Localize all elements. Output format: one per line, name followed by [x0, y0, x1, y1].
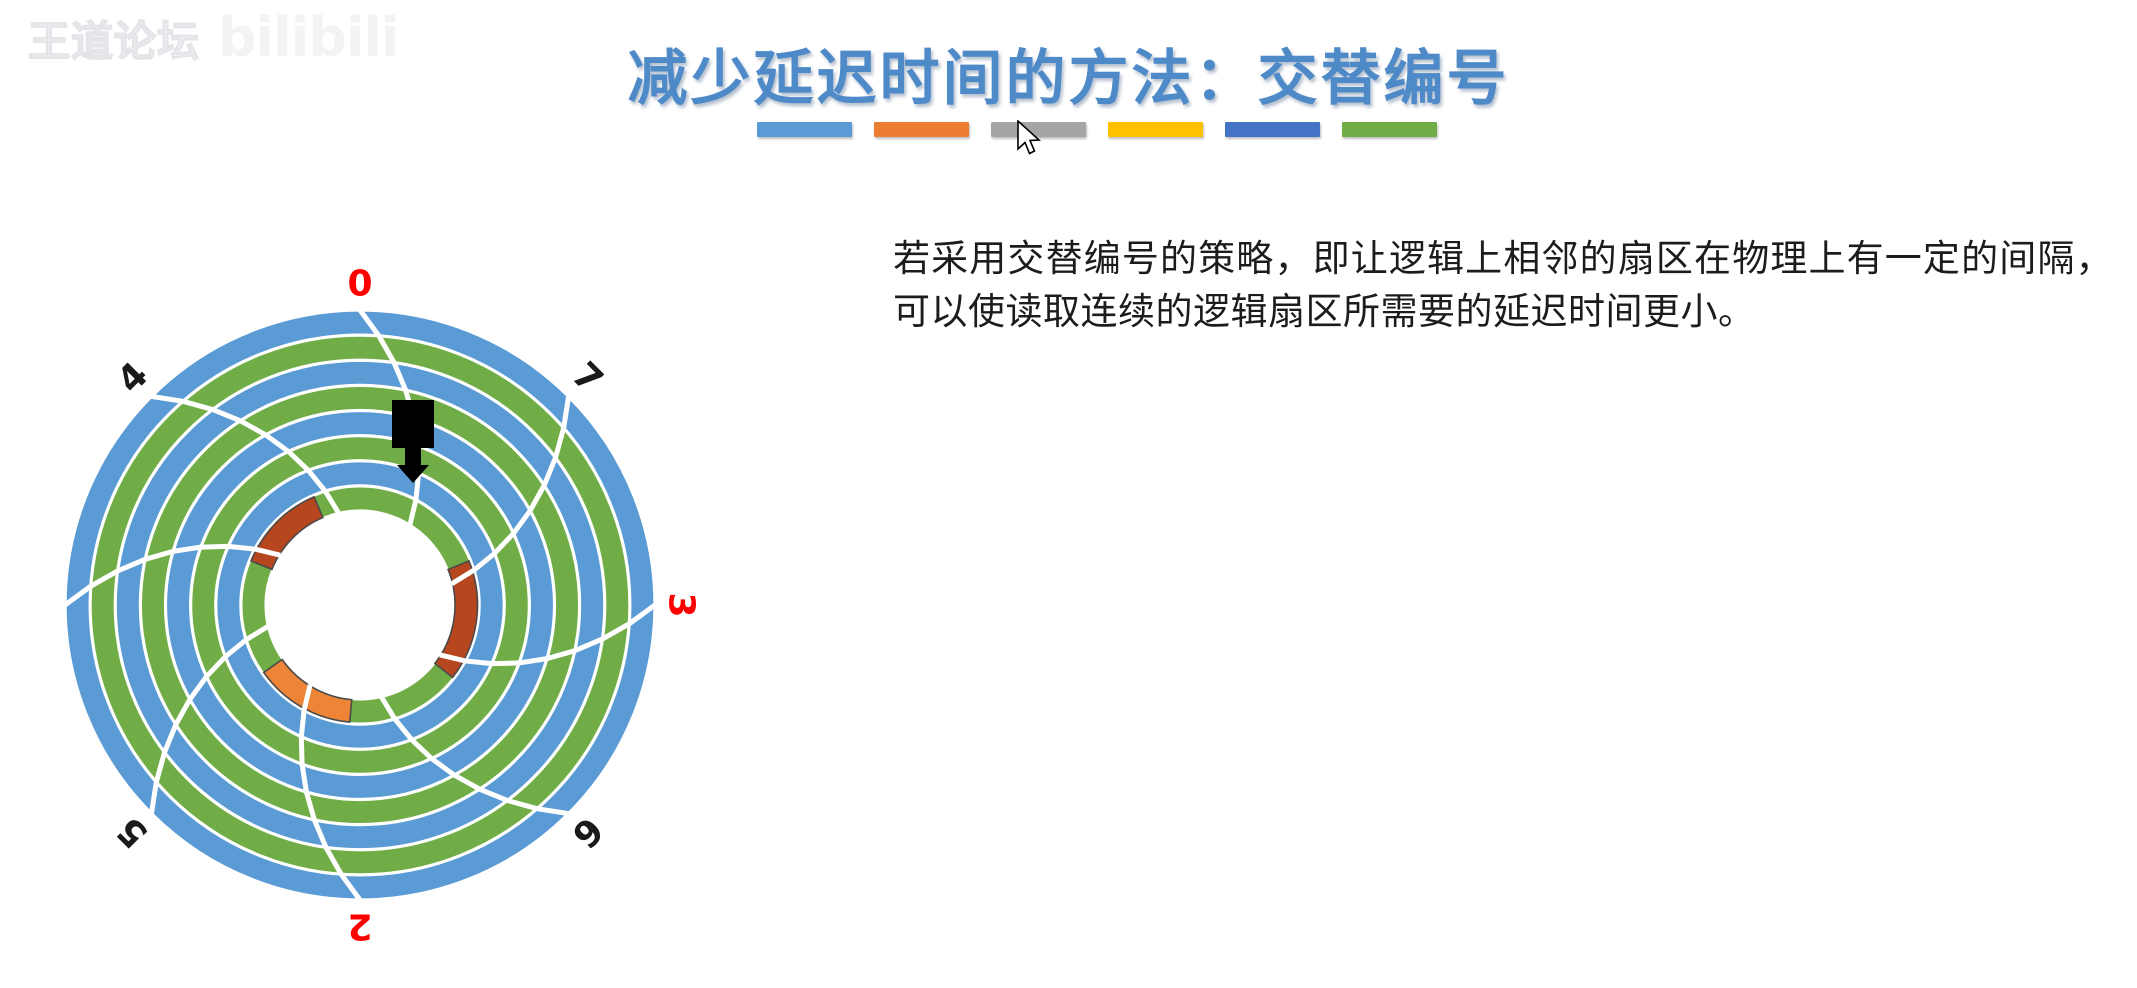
accent-bar-gray: [991, 122, 1086, 137]
disk-sector-label-3: 3: [661, 592, 702, 617]
disk-sector-label-0: 0: [347, 264, 372, 305]
disk-sector-label-2: 2: [347, 906, 372, 947]
disk-sector-label-5: 5: [110, 809, 157, 856]
read-write-head-body: [392, 400, 434, 448]
accent-bar-green: [1342, 122, 1437, 137]
disk-sector-label-4: 4: [110, 355, 157, 402]
slide-title-text: 减少延迟时间的方法：交替编号: [628, 44, 1510, 114]
slide-title: 减少延迟时间的方法：交替编号: [0, 30, 2137, 117]
disk-sector-label-6: 6: [564, 809, 611, 856]
disk-platter-svg: 07362514: [60, 255, 740, 955]
accent-bar-orange: [874, 122, 969, 137]
body-paragraph: 若采用交替编号的策略，即让逻辑上相邻的扇区在物理上有一定的间隔，可以使读取连续的…: [893, 233, 2113, 338]
disk-hub: [266, 511, 454, 699]
accent-bar-yellow: [1108, 122, 1203, 137]
accent-bar-blue: [757, 122, 852, 137]
accent-bar-dark-blue: [1225, 122, 1320, 137]
body-text-block: 若采用交替编号的策略，即让逻辑上相邻的扇区在物理上有一定的间隔，可以使读取连续的…: [893, 233, 2113, 338]
disk-diagram: 07362514: [60, 255, 740, 955]
disk-sector-label-7: 7: [564, 355, 611, 402]
accent-bar-group: [757, 122, 1437, 138]
